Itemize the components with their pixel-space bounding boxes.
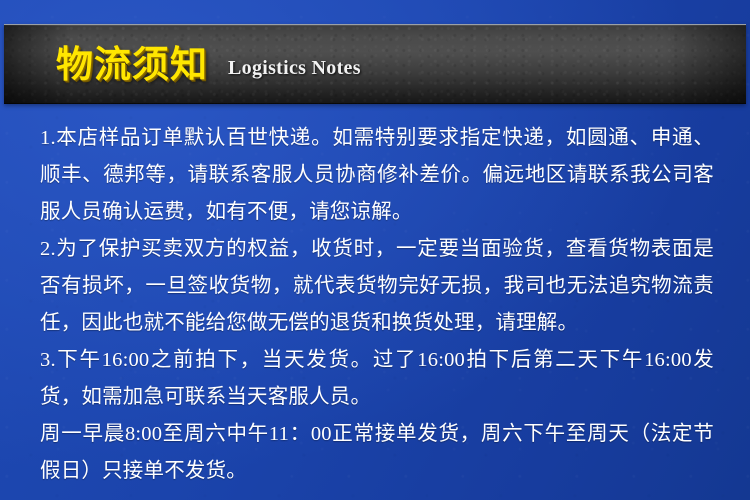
- note-paragraph-2: 2.为了保护买卖双方的权益，收货时，一定要当面验货，查看货物表面是否有损坏，一旦…: [40, 231, 714, 342]
- logistics-notes-poster: 物流须知 Logistics Notes 1.本店样品订单默认百世快递。如需特别…: [0, 0, 750, 500]
- page-title: 物流须知: [56, 46, 208, 83]
- header-bar: 物流须知 Logistics Notes: [4, 24, 746, 104]
- note-paragraph-4: 周一早晨8:00至周六中午11：00正常接单发货，周六下午至周天（法定节假日）只…: [40, 416, 714, 490]
- page-subtitle: Logistics Notes: [228, 58, 361, 78]
- notes-list: 1.本店样品订单默认百世快递。如需特别要求指定快递，如圆通、申通、顺丰、德邦等，…: [40, 120, 714, 490]
- note-paragraph-3: 3.下午16:00之前拍下，当天发货。过了16:00拍下后第二天下午16:00发…: [40, 342, 714, 416]
- note-paragraph-1: 1.本店样品订单默认百世快递。如需特别要求指定快递，如圆通、申通、顺丰、德邦等，…: [40, 120, 714, 231]
